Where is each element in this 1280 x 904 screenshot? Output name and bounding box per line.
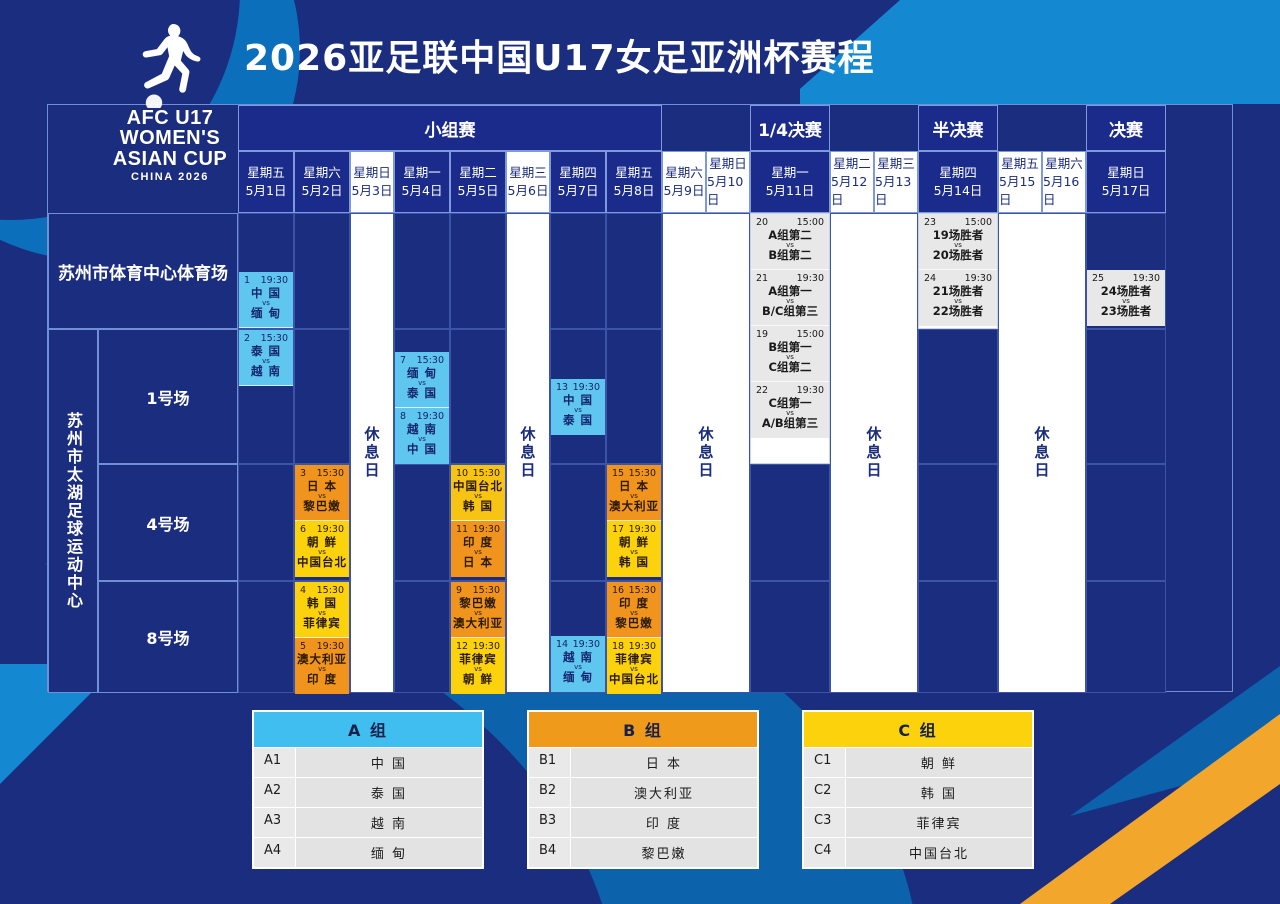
day-dow: 星期三 xyxy=(509,164,547,182)
group-row: C2 韩 国 xyxy=(804,777,1032,807)
match-away-team: 23场胜者 xyxy=(1089,305,1163,318)
group-team-name: 印 度 xyxy=(571,808,757,837)
day-date: 5月8日 xyxy=(614,182,655,200)
match-away-team: A/B组第三 xyxy=(753,417,827,430)
match-away-team: 20场胜者 xyxy=(921,249,995,262)
match-card-9[interactable]: 915:30 黎巴嫩 vs 澳大利亚 xyxy=(451,582,505,638)
match-away-team: 黎巴嫩 xyxy=(609,617,659,630)
match-card-4[interactable]: 415:30 韩 国 vs 菲律宾 xyxy=(295,582,349,638)
match-away-team: 韩 国 xyxy=(609,556,659,569)
rest-day-may-3: 休息日 xyxy=(350,213,394,693)
match-time: 19:30 xyxy=(573,639,600,650)
day-header-may-5: 星期二5月5日 xyxy=(450,151,506,213)
day-header-may-11: 星期一5月11日 xyxy=(750,151,830,213)
group-c-header: C 组 xyxy=(804,712,1032,747)
match-number: 5 xyxy=(300,641,306,652)
slot-pitch8-may-2: 415:30 韩 国 vs 菲律宾 519:30 澳大利亚 vs 印 度 xyxy=(294,581,350,693)
day-dow: 星期六 xyxy=(665,164,703,182)
match-time: 15:30 xyxy=(629,585,656,596)
day-header-may-6: 星期三5月6日 xyxy=(506,151,550,213)
group-team-name: 中国台北 xyxy=(846,838,1032,867)
rest-day-may-9-10: 休息日 xyxy=(662,213,750,693)
group-team-name: 日 本 xyxy=(571,748,757,777)
match-time: 19:30 xyxy=(965,273,992,284)
day-dow: 星期四 xyxy=(559,164,597,182)
pitch-label-4: 4号场 xyxy=(98,464,238,581)
day-date: 5月9日 xyxy=(664,182,705,200)
match-away-team: 朝 鲜 xyxy=(453,673,503,686)
rest-day-may-12-13: 休息日 xyxy=(830,213,918,693)
slot-pitch8-may-7: 1419:30 越 南 vs 缅 甸 xyxy=(550,581,606,693)
slot-pitch4-may-1 xyxy=(238,464,294,581)
slot-final-filler-row5 xyxy=(1086,464,1166,581)
day-date: 5月6日 xyxy=(508,182,549,200)
match-number: 1 xyxy=(244,275,250,286)
slot-qf-filler-row6 xyxy=(750,581,830,693)
group-table-a: A 组 A1 中 国 A2 泰 国 A3 越 南 A4 缅 甸 xyxy=(252,710,484,869)
match-time: 15:30 xyxy=(261,333,288,344)
match-away-team: 中国台北 xyxy=(609,673,659,686)
match-time: 15:00 xyxy=(797,217,824,228)
group-row: B4 黎巴嫩 xyxy=(529,837,757,867)
group-slot-code: A1 xyxy=(254,748,296,777)
group-row: A4 缅 甸 xyxy=(254,837,482,867)
stage-final: 决赛 xyxy=(1086,105,1166,151)
group-team-name: 泰 国 xyxy=(296,778,482,807)
group-slot-code: C4 xyxy=(804,838,846,867)
match-card-22[interactable]: 2219:30 C组第一 vs A/B组第三 xyxy=(751,382,829,438)
match-card-5[interactable]: 519:30 澳大利亚 vs 印 度 xyxy=(295,638,349,694)
stage-group-stage: 小组赛 xyxy=(238,105,662,151)
day-dow: 星期日 xyxy=(1107,164,1145,182)
match-away-team: B组第二 xyxy=(753,249,827,262)
day-dow: 星期一 xyxy=(403,164,441,182)
day-header-may-16: 星期六5月16日 xyxy=(1042,151,1086,213)
day-date: 5月13日 xyxy=(875,173,917,209)
stage-quarterfinal: 1/4决赛 xyxy=(750,105,830,151)
match-number: 25 xyxy=(1092,273,1104,284)
day-header-may-4: 星期一5月4日 xyxy=(394,151,450,213)
match-card-23[interactable]: 2315:00 19场胜者 vs 20场胜者 xyxy=(919,214,997,270)
match-away-team: 越 南 xyxy=(241,365,291,378)
group-team-name: 韩 国 xyxy=(846,778,1032,807)
slot-pitch4-may-4 xyxy=(394,464,450,581)
day-header-may-13: 星期三5月13日 xyxy=(874,151,918,213)
group-row: B2 澳大利亚 xyxy=(529,777,757,807)
group-a-header: A 组 xyxy=(254,712,482,747)
match-number: 4 xyxy=(300,585,306,596)
group-row: C4 中国台北 xyxy=(804,837,1032,867)
match-away-team: 缅 甸 xyxy=(553,671,603,684)
logo-line-4: CHINA 2026 xyxy=(86,172,254,183)
day-dow: 星期六 xyxy=(303,164,341,182)
group-slot-code: A2 xyxy=(254,778,296,807)
slot-qf-filler-row5 xyxy=(750,464,830,581)
slot-pitch4-may-5: 1015:30 中国台北 vs 韩 国 1119:30 印 度 vs 日 本 xyxy=(450,464,506,581)
match-number: 15 xyxy=(612,468,624,479)
match-time: 19:30 xyxy=(473,641,500,652)
day-dow: 星期日 xyxy=(353,164,391,182)
day-header-may-2: 星期六5月2日 xyxy=(294,151,350,213)
day-date: 5月7日 xyxy=(558,182,599,200)
match-time: 19:30 xyxy=(797,385,824,396)
slot-stadium-may-8 xyxy=(606,213,662,329)
female-footballer-icon xyxy=(86,22,254,108)
day-header-may-12: 星期二5月12日 xyxy=(830,151,874,213)
day-date: 5月17日 xyxy=(1102,182,1151,200)
slot-pitch8-may-5: 915:30 黎巴嫩 vs 澳大利亚 1219:30 菲律宾 vs 朝 鲜 xyxy=(450,581,506,693)
match-number: 16 xyxy=(612,585,624,596)
day-date: 5月5日 xyxy=(458,182,499,200)
match-away-team: 菲律宾 xyxy=(297,617,347,630)
match-number: 12 xyxy=(456,641,468,652)
match-away-team: 韩 国 xyxy=(453,500,503,513)
page-title: 2026亚足联中国U17女足亚洲杯赛程 xyxy=(244,29,875,81)
group-team-name: 菲律宾 xyxy=(846,808,1032,837)
match-away-team: 中 国 xyxy=(397,443,447,456)
slot-pitch1-may-4: 715:30 缅 甸 vs 泰 国 819:30 越 南 vs 中 国 xyxy=(394,329,450,464)
slot-pitch1-may-2 xyxy=(294,329,350,464)
rest-day-may-15-16: 休息日 xyxy=(998,213,1086,693)
match-away-team: 印 度 xyxy=(297,673,347,686)
match-number: 21 xyxy=(756,273,768,284)
match-number: 22 xyxy=(756,385,768,396)
match-away-team: 泰 国 xyxy=(397,387,447,400)
match-away-team: C组第二 xyxy=(753,361,827,374)
day-dow: 星期六 xyxy=(1045,155,1083,173)
match-number: 19 xyxy=(756,329,768,340)
match-card-19[interactable]: 1915:00 B组第一 vs C组第二 xyxy=(751,326,829,382)
match-time: 19:30 xyxy=(629,641,656,652)
match-card-1[interactable]: 119:30 中 国 vs 缅 甸 xyxy=(239,272,293,328)
match-number: 14 xyxy=(556,639,568,650)
slot-stadium-may-5 xyxy=(450,213,506,329)
match-time: 19:30 xyxy=(629,524,656,535)
slot-pitch4-may-2: 315:30 日 本 vs 黎巴嫩 619:30 朝 鲜 vs 中国台北 xyxy=(294,464,350,581)
day-date: 5月4日 xyxy=(402,182,443,200)
group-slot-code: B1 xyxy=(529,748,571,777)
slot-pitch8-may-4 xyxy=(394,581,450,693)
slot-pitch1-may-1: 215:30 泰 国 vs 越 南 xyxy=(238,329,294,464)
match-card-10[interactable]: 1015:30 中国台北 vs 韩 国 xyxy=(451,465,505,521)
stage-gap-3 xyxy=(998,105,1086,151)
group-slot-code: A3 xyxy=(254,808,296,837)
logo-line-2: WOMEN'S xyxy=(86,128,254,148)
day-date: 5月10日 xyxy=(707,173,749,209)
match-card-14[interactable]: 1419:30 越 南 vs 缅 甸 xyxy=(551,636,605,692)
day-date: 5月14日 xyxy=(934,182,983,200)
group-slot-code: C2 xyxy=(804,778,846,807)
day-header-may-3: 星期日5月3日 xyxy=(350,151,394,213)
match-away-team: 缅 甸 xyxy=(241,307,291,320)
slot-stadium-may-7 xyxy=(550,213,606,329)
group-slot-code: B2 xyxy=(529,778,571,807)
logo-line-3: ASIAN CUP xyxy=(86,149,254,169)
match-number: 10 xyxy=(456,468,468,479)
match-card-11[interactable]: 1119:30 印 度 vs 日 本 xyxy=(451,521,505,577)
match-away-team: 22场胜者 xyxy=(921,305,995,318)
day-header-may-15: 星期五5月15日 xyxy=(998,151,1042,213)
match-card-13[interactable]: 1319:30 中 国 vs 泰 国 xyxy=(551,379,605,435)
day-header-may-14: 星期四5月14日 xyxy=(918,151,998,213)
group-row: A1 中 国 xyxy=(254,747,482,777)
day-date: 5月2日 xyxy=(302,182,343,200)
match-card-15[interactable]: 1515:30 日 本 vs 澳大利亚 xyxy=(607,465,661,521)
match-card-6[interactable]: 619:30 朝 鲜 vs 中国台北 xyxy=(295,521,349,577)
slot-pitch4-may-7 xyxy=(550,464,606,581)
match-time: 19:30 xyxy=(317,524,344,535)
match-number: 23 xyxy=(924,217,936,228)
match-card-20[interactable]: 2015:00 A组第二 vs B组第二 xyxy=(751,214,829,270)
day-date: 5月3日 xyxy=(352,182,393,200)
match-number: 7 xyxy=(400,355,406,366)
group-slot-code: B3 xyxy=(529,808,571,837)
match-time: 19:30 xyxy=(797,273,824,284)
group-slot-code: B4 xyxy=(529,838,571,867)
day-dow: 星期二 xyxy=(459,164,497,182)
group-team-name: 澳大利亚 xyxy=(571,778,757,807)
match-number: 9 xyxy=(456,585,462,596)
slot-pitch8-may-1 xyxy=(238,581,294,693)
match-time: 15:00 xyxy=(797,329,824,340)
match-number: 20 xyxy=(756,217,768,228)
match-card-21[interactable]: 2119:30 A组第一 vs B/C组第三 xyxy=(751,270,829,326)
day-header-may-17: 星期日5月17日 xyxy=(1086,151,1166,213)
group-team-name: 中 国 xyxy=(296,748,482,777)
match-number: 11 xyxy=(456,524,468,535)
day-date: 5月11日 xyxy=(766,182,815,200)
day-dow: 星期一 xyxy=(771,164,809,182)
match-time: 19:30 xyxy=(261,275,288,286)
match-away-team: 日 本 xyxy=(453,556,503,569)
pitch-label-8: 8号场 xyxy=(98,581,238,693)
match-number: 2 xyxy=(244,333,250,344)
match-time: 15:30 xyxy=(473,468,500,479)
match-time: 19:30 xyxy=(473,524,500,535)
group-b-header: B 组 xyxy=(529,712,757,747)
match-number: 6 xyxy=(300,524,306,535)
day-date: 5月16日 xyxy=(1043,173,1085,209)
slot-final: 2519:30 24场胜者 vs 23场胜者 xyxy=(1086,213,1166,329)
match-number: 17 xyxy=(612,524,624,535)
stage-gap-1 xyxy=(662,105,750,151)
match-card-18[interactable]: 1819:30 菲律宾 vs 中国台北 xyxy=(607,638,661,694)
match-away-team: 澳大利亚 xyxy=(453,617,503,630)
match-away-team: 中国台北 xyxy=(297,556,347,569)
rest-day-may-6: 休息日 xyxy=(506,213,550,693)
match-number: 18 xyxy=(612,641,624,652)
stage-semifinal: 半决赛 xyxy=(918,105,998,151)
group-slot-code: C3 xyxy=(804,808,846,837)
day-dow: 星期日 xyxy=(709,155,747,173)
day-date: 5月15日 xyxy=(999,173,1041,209)
match-card-3[interactable]: 315:30 日 本 vs 黎巴嫩 xyxy=(295,465,349,521)
match-away-team: B/C组第三 xyxy=(753,305,827,318)
match-time: 19:30 xyxy=(573,382,600,393)
group-table-c: C 组 C1 朝 鲜 C2 韩 国 C3 菲律宾 C4 中国台北 xyxy=(802,710,1034,869)
match-number: 24 xyxy=(924,273,936,284)
day-dow: 星期五 xyxy=(1001,155,1039,173)
match-time: 15:30 xyxy=(629,468,656,479)
match-card-7[interactable]: 715:30 缅 甸 vs 泰 国 xyxy=(395,352,449,408)
match-card-2[interactable]: 215:30 泰 国 vs 越 南 xyxy=(239,330,293,386)
slot-pitch8-may-8: 1615:30 印 度 vs 黎巴嫩 1819:30 菲律宾 vs 中国台北 xyxy=(606,581,662,693)
slot-sf-filler-row6 xyxy=(918,581,998,693)
group-row: C1 朝 鲜 xyxy=(804,747,1032,777)
group-table-b: B 组 B1 日 本 B2 澳大利亚 B3 印 度 B4 黎巴嫩 xyxy=(527,710,759,869)
group-slot-code: A4 xyxy=(254,838,296,867)
day-dow: 星期三 xyxy=(877,155,915,173)
match-away-team: 黎巴嫩 xyxy=(297,500,347,513)
match-away-team: 泰 国 xyxy=(553,414,603,427)
day-dow: 星期二 xyxy=(833,155,871,173)
slot-final-filler-row6 xyxy=(1086,581,1166,693)
match-card-8[interactable]: 819:30 越 南 vs 中 国 xyxy=(395,408,449,464)
match-time: 15:30 xyxy=(317,468,344,479)
logo-line-1: AFC U17 xyxy=(86,108,254,128)
group-team-name: 越 南 xyxy=(296,808,482,837)
match-number: 13 xyxy=(556,382,568,393)
match-time: 19:30 xyxy=(417,411,444,422)
venue-complex-label: 苏州市太湖足球运动中心 xyxy=(48,329,98,693)
match-card-25[interactable]: 2519:30 24场胜者 vs 23场胜者 xyxy=(1087,270,1165,326)
group-row: A3 越 南 xyxy=(254,807,482,837)
group-team-name: 朝 鲜 xyxy=(846,748,1032,777)
match-time: 15:00 xyxy=(965,217,992,228)
slot-sf-filler-row5 xyxy=(918,464,998,581)
match-card-12[interactable]: 1219:30 菲律宾 vs 朝 鲜 xyxy=(451,638,505,694)
slot-stadium-may-4 xyxy=(394,213,450,329)
match-time: 15:30 xyxy=(473,585,500,596)
stage-gap-2 xyxy=(830,105,918,151)
match-card-24[interactable]: 2419:30 21场胜者 vs 22场胜者 xyxy=(919,270,997,326)
group-row: B3 印 度 xyxy=(529,807,757,837)
slot-stadium-may-2 xyxy=(294,213,350,329)
match-time: 19:30 xyxy=(317,641,344,652)
day-header-may-8: 星期五5月8日 xyxy=(606,151,662,213)
group-row: A2 泰 国 xyxy=(254,777,482,807)
group-slot-code: C1 xyxy=(804,748,846,777)
pitch-label-1: 1号场 xyxy=(98,329,238,464)
slot-pitch1-may-7: 1319:30 中 国 vs 泰 国 xyxy=(550,329,606,464)
venue-stadium-label: 苏州市体育中心体育场 xyxy=(48,213,238,329)
tournament-logo: AFC U17 WOMEN'S ASIAN CUP CHINA 2026 xyxy=(86,22,254,200)
day-header-may-9: 星期六5月9日 xyxy=(662,151,706,213)
match-card-16[interactable]: 1615:30 印 度 vs 黎巴嫩 xyxy=(607,582,661,638)
slot-pitch1-may-8 xyxy=(606,329,662,464)
match-away-team: 澳大利亚 xyxy=(609,500,659,513)
match-time: 15:30 xyxy=(317,585,344,596)
match-number: 3 xyxy=(300,468,306,479)
group-team-name: 黎巴嫩 xyxy=(571,838,757,867)
match-time: 19:30 xyxy=(1133,273,1160,284)
match-time: 15:30 xyxy=(417,355,444,366)
slot-pitch4-may-8: 1515:30 日 本 vs 澳大利亚 1719:30 朝 鲜 vs 韩 国 xyxy=(606,464,662,581)
match-number: 8 xyxy=(400,411,406,422)
slot-semifinals: 2315:00 19场胜者 vs 20场胜者 2419:30 21场胜者 vs … xyxy=(918,213,998,329)
match-card-17[interactable]: 1719:30 朝 鲜 vs 韩 国 xyxy=(607,521,661,577)
day-dow: 星期四 xyxy=(939,164,977,182)
group-row: B1 日 本 xyxy=(529,747,757,777)
day-date: 5月12日 xyxy=(831,173,873,209)
slot-pitch1-may-5 xyxy=(450,329,506,464)
group-team-name: 缅 甸 xyxy=(296,838,482,867)
day-header-may-7: 星期四5月7日 xyxy=(550,151,606,213)
day-dow: 星期五 xyxy=(615,164,653,182)
slot-stadium-may-1: 119:30 中 国 vs 缅 甸 xyxy=(238,213,294,329)
group-row: C3 菲律宾 xyxy=(804,807,1032,837)
slot-quarterfinals: 2015:00 A组第二 vs B组第二 2119:30 A组第一 vs B/C… xyxy=(750,213,830,464)
slot-sf-filler-row4 xyxy=(918,329,998,464)
slot-final-filler-row4 xyxy=(1086,329,1166,464)
day-header-may-10: 星期日5月10日 xyxy=(706,151,750,213)
